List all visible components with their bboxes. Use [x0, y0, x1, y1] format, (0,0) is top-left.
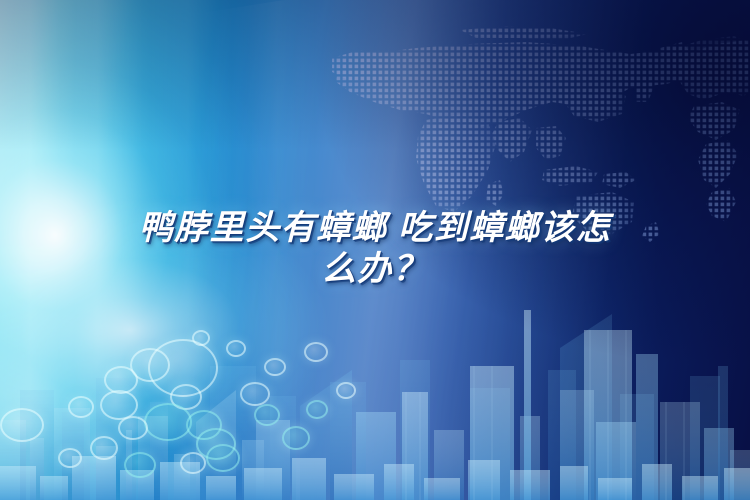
headline-line-2: 么办？: [0, 249, 750, 290]
banner-image: 鸭脖里头有蟑螂 吃到蟑螂该怎 么办？: [0, 0, 750, 500]
city-skyline: [0, 270, 750, 500]
headline-line-1: 鸭脖里头有蟑螂 吃到蟑螂该怎: [0, 208, 750, 249]
headline-block: 鸭脖里头有蟑螂 吃到蟑螂该怎 么办？: [0, 208, 750, 290]
